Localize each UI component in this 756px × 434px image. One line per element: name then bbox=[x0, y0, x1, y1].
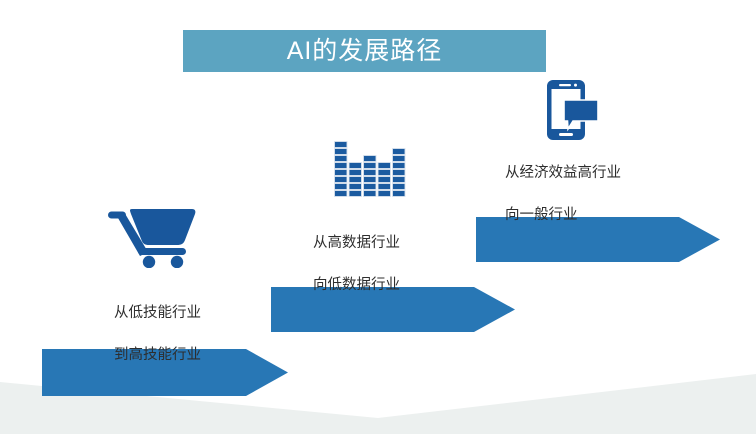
bar-chart-icon bbox=[334, 141, 406, 204]
caption-data-line1: 从高数据行业 bbox=[313, 233, 473, 254]
caption-data: 从高数据行业 向低数据行业 bbox=[313, 212, 473, 317]
shopping-cart-icon bbox=[108, 200, 200, 273]
title-banner: AI的发展路径 bbox=[183, 30, 546, 72]
caption-economy: 从经济效益高行业 向一般行业 bbox=[505, 142, 685, 247]
decoration-right-wedge bbox=[378, 374, 756, 434]
caption-skill-line2: 到高技能行业 bbox=[114, 345, 274, 366]
caption-economy-line1: 从经济效益高行业 bbox=[505, 163, 685, 184]
caption-data-line2: 向低数据行业 bbox=[313, 275, 473, 296]
slide-canvas: AI的发展路径 从经济效益高行业 向一般行业 bbox=[0, 0, 756, 434]
caption-skill: 从低技能行业 到高技能行业 bbox=[114, 282, 274, 387]
smartphone-message-icon bbox=[538, 78, 600, 147]
caption-skill-line1: 从低技能行业 bbox=[114, 303, 274, 324]
caption-economy-line2: 向一般行业 bbox=[505, 205, 685, 226]
page-title: AI的发展路径 bbox=[287, 39, 443, 64]
